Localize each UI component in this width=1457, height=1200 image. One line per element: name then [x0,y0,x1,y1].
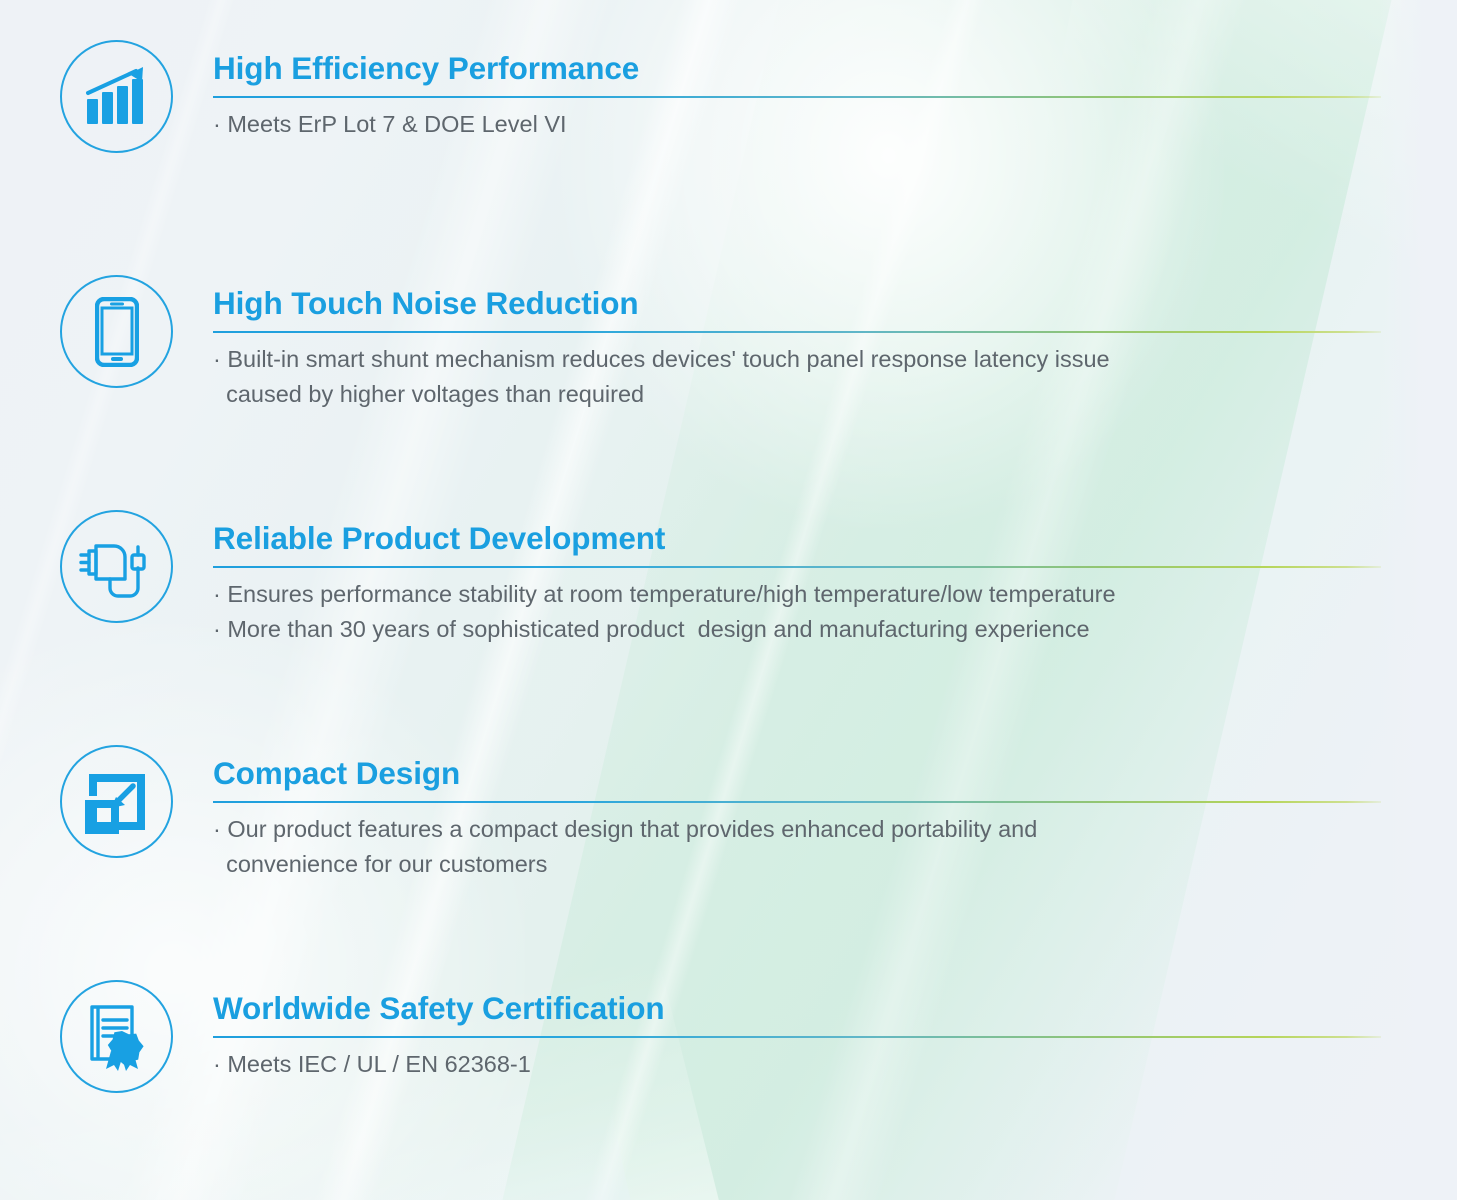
feature-text-block: Reliable Product Development · Ensures p… [213,521,1383,646]
feature-title: Worldwide Safety Certification [213,991,1383,1025]
feature-bullet-line: caused by higher voltages than required [213,377,1383,411]
smartphone-icon [60,275,173,388]
feature-divider [213,331,1381,333]
compact-resize-icon [60,745,173,858]
feature-bullet-line: · Meets IEC / UL / EN 62368-1 [213,1047,1383,1081]
feature-bullet-list: · Our product features a compact design … [213,812,1383,881]
feature-icon-wrapper [60,40,175,155]
feature-bullet-line: · Our product features a compact design … [213,812,1383,846]
feature-bullet-list: · Built-in smart shunt mechanism reduces… [213,342,1383,411]
feature-title: Reliable Product Development [213,521,1383,555]
bar-chart-growth-icon [60,40,173,153]
feature-icon-wrapper [60,275,175,390]
feature-divider [213,566,1381,568]
feature-bullet-line: · Ensures performance stability at room … [213,577,1383,611]
feature-divider [213,1036,1381,1038]
feature-bullet-list: · Meets IEC / UL / EN 62368-1 [213,1047,1383,1081]
feature-divider [213,96,1381,98]
certificate-seal-icon [60,980,173,1093]
feature-bullet-line: · Meets ErP Lot 7 & DOE Level VI [213,107,1383,141]
feature-text-block: Compact Design · Our product features a … [213,756,1383,881]
feature-text-block: High Touch Noise Reduction · Built-in sm… [213,286,1383,411]
feature-bullet-line: · More than 30 years of sophisticated pr… [213,612,1383,646]
feature-icon-wrapper [60,745,175,860]
feature-highlights-page: High Efficiency Performance · Meets ErP … [0,0,1457,1200]
feature-title: High Touch Noise Reduction [213,286,1383,320]
feature-icon-wrapper [60,980,175,1095]
feature-bullet-list: · Meets ErP Lot 7 & DOE Level VI [213,107,1383,141]
feature-title: Compact Design [213,756,1383,790]
feature-icon-wrapper [60,510,175,625]
feature-bullet-list: · Ensures performance stability at room … [213,577,1383,646]
feature-text-block: High Efficiency Performance · Meets ErP … [213,51,1383,142]
feature-title: High Efficiency Performance [213,51,1383,85]
feature-divider [213,801,1381,803]
feature-bullet-line: · Built-in smart shunt mechanism reduces… [213,342,1383,376]
feature-bullet-line: convenience for our customers [213,847,1383,881]
feature-text-block: Worldwide Safety Certification · Meets I… [213,991,1383,1082]
power-adapter-icon [60,510,173,623]
